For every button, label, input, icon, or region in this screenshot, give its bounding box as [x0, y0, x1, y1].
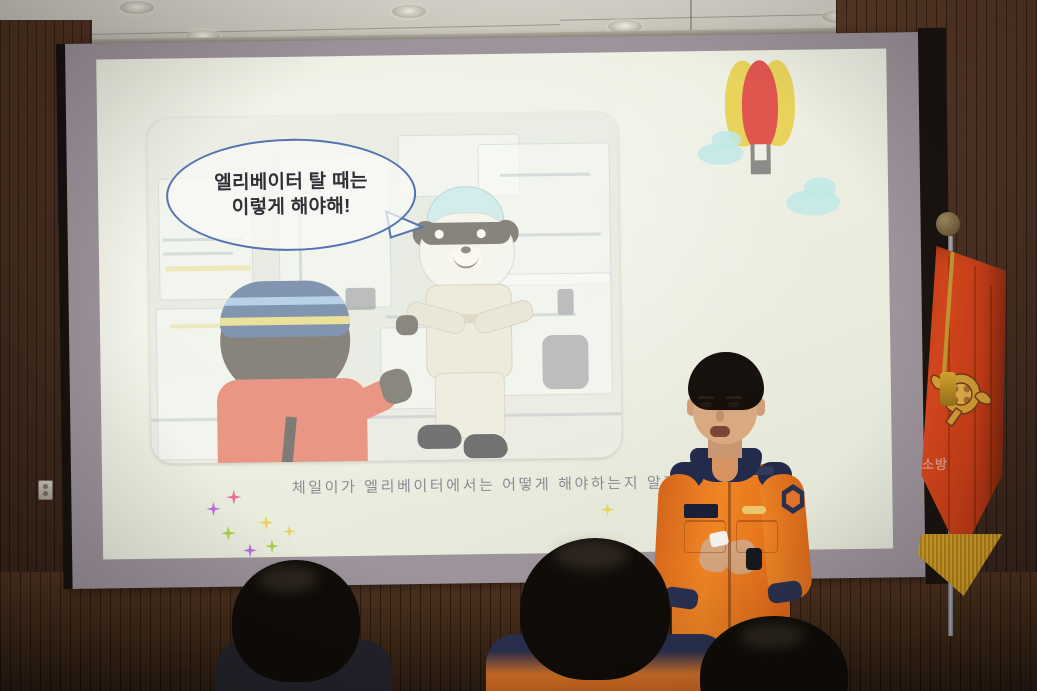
- presenter-mouth: [710, 426, 730, 437]
- sparkle-icon: [265, 539, 279, 553]
- audience-hair-highlight: [258, 566, 318, 592]
- presenter-eyebrow: [726, 396, 742, 399]
- lecture-room-photo: 엘리베이터 탈 때는 이렇게 해야해! 체일이가 엘리베이터에서는 어떻게 해야…: [0, 0, 1037, 691]
- speech-bubble-line-2: 이렇게 해야해!: [232, 194, 351, 221]
- sparkle-icon: [221, 526, 236, 541]
- fire-service-emblem-icon: [926, 356, 996, 436]
- presenter-eye: [728, 402, 740, 407]
- presenter-cuff: [767, 580, 803, 605]
- wall-outlet: [38, 480, 53, 500]
- flag-fringe: [914, 534, 1006, 596]
- speech-bubble-line-1: 엘리베이터 탈 때는: [214, 169, 368, 196]
- ceremonial-flag: 소방: [896, 206, 1016, 636]
- presenter-fringe-hair: [690, 362, 762, 392]
- flag-finial: [936, 212, 960, 236]
- sparkle-icon: [600, 502, 614, 516]
- audience-member-left: [232, 560, 372, 691]
- audience-member-right: [700, 616, 860, 691]
- sparkle-icon: [283, 525, 296, 538]
- presenter-name-tag: [684, 504, 718, 518]
- flag-text: 소방: [922, 454, 948, 473]
- balloon-basket-inner: [754, 144, 766, 160]
- ceiling-seam: [690, 0, 692, 34]
- flag-tassel: [940, 372, 956, 406]
- presenter-eye: [700, 402, 712, 407]
- hot-air-balloon-icon: [724, 60, 796, 181]
- presenter-wing-emblem: [742, 506, 766, 514]
- sparkle-icon: [243, 543, 257, 557]
- presenter-wristwatch: [746, 548, 762, 570]
- slide-photo: 엘리베이터 탈 때는 이렇게 해야해!: [147, 112, 622, 464]
- sparkle-icon: [206, 502, 220, 516]
- downlight-icon: [392, 5, 426, 18]
- audience-hair-highlight: [554, 540, 628, 570]
- audience-member-center: [520, 538, 690, 691]
- presenter-eyebrow: [698, 396, 714, 399]
- sparkle-icon: [259, 515, 274, 530]
- sparkle-icon: [226, 490, 241, 505]
- downlight-icon: [120, 1, 154, 14]
- audience-hair-highlight: [740, 624, 804, 648]
- presenter-nose: [716, 410, 724, 422]
